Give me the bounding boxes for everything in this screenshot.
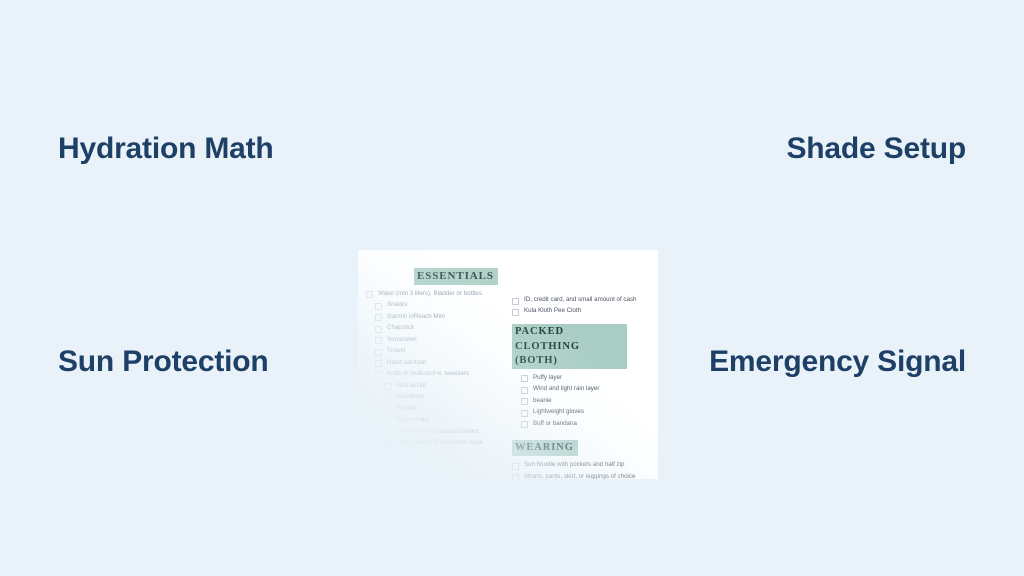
list-item[interactable]: Headlamp (366, 393, 504, 402)
list-item[interactable]: Puffy layer (512, 374, 650, 383)
checkbox-icon[interactable] (375, 326, 382, 333)
list-item[interactable]: Chapstick (366, 324, 504, 333)
checkbox-icon[interactable] (384, 441, 391, 448)
checkbox-icon[interactable] (375, 349, 382, 356)
list-item[interactable]: beanie (512, 397, 650, 406)
checkbox-icon[interactable] (521, 375, 528, 382)
list-item[interactable]: Buff or bandana (512, 420, 650, 429)
list-item[interactable]: Extra battery or low power bank (366, 439, 504, 448)
misc-item-list: ID, credit card, and small amount of cas… (512, 296, 650, 316)
slide-canvas: Hydration Math Shade Setup Sun Protectio… (0, 0, 1024, 576)
list-item[interactable]: Wind and light rain layer (512, 385, 650, 394)
checkbox-icon[interactable] (521, 398, 528, 405)
list-item[interactable]: Lightweight gloves (512, 408, 650, 417)
checkbox-icon[interactable] (521, 421, 528, 428)
checkbox-icon[interactable] (512, 474, 519, 479)
checkbox-icon[interactable] (375, 360, 382, 367)
packed-clothing-item-list: Puffy layer Wind and light rain layer be… (512, 374, 650, 429)
wearing-item-list: Sun hoodie with pockets and half zip Sho… (512, 461, 650, 479)
section-heading-packed-clothing: PACKED CLOTHING (BOTH) (512, 324, 627, 369)
label-hydration-math: Hydration Math (58, 132, 274, 165)
list-item[interactable]: Garmin inReach Mini (366, 313, 504, 322)
list-item[interactable]: Paper maps (366, 416, 504, 425)
checkbox-icon[interactable] (512, 298, 519, 305)
checkbox-icon[interactable] (384, 406, 391, 413)
label-shade-setup: Shade Setup (787, 132, 967, 165)
essentials-item-list: Water (min 3 liters). Bladder or bottles… (366, 290, 504, 448)
checkbox-icon[interactable] (375, 303, 382, 310)
list-item[interactable]: Whistle (366, 405, 504, 414)
list-item[interactable]: First aid kit (366, 382, 504, 391)
list-item[interactable]: Shorts, pants, skirt, or leggings of cho… (512, 473, 650, 479)
section-heading-essentials: ESSENTIALS (414, 268, 498, 285)
checkbox-icon[interactable] (384, 383, 391, 390)
section-heading-wearing: WEARING (512, 440, 578, 456)
checkbox-icon[interactable] (375, 372, 382, 379)
checkbox-icon[interactable] (366, 291, 373, 298)
essentials-column: ESSENTIALS Water (min 3 liters). Bladder… (366, 260, 504, 479)
list-item[interactable]: Sunscreen (366, 336, 504, 345)
list-item[interactable]: Itinerary with a trusted contact (366, 428, 504, 437)
packing-list-image: ESSENTIALS Water (min 3 liters). Bladder… (358, 250, 658, 479)
list-item[interactable]: ID, credit card, and small amount of cas… (512, 296, 650, 305)
list-item[interactable]: Sun hoodie with pockets and half zip (512, 461, 650, 470)
checkbox-icon[interactable] (521, 387, 528, 394)
clothing-column: ID, credit card, and small amount of cas… (512, 260, 650, 479)
list-item[interactable]: Hand sanitizer (366, 359, 504, 368)
list-item[interactable]: Knife or multi-tool w. tweezers (366, 370, 504, 379)
checkbox-icon[interactable] (375, 337, 382, 344)
checkbox-icon[interactable] (512, 463, 519, 470)
label-emergency-signal: Emergency Signal (709, 345, 966, 378)
list-item[interactable]: Water (min 3 liters). Bladder or bottles (366, 290, 504, 299)
list-item[interactable]: Trowel (366, 347, 504, 356)
checkbox-icon[interactable] (512, 309, 519, 316)
packing-list-sheet: ESSENTIALS Water (min 3 liters). Bladder… (358, 250, 658, 479)
checkbox-icon[interactable] (384, 395, 391, 402)
label-sun-protection: Sun Protection (58, 345, 269, 378)
list-item[interactable]: Snacks (366, 301, 504, 310)
checkbox-icon[interactable] (521, 410, 528, 417)
checkbox-icon[interactable] (384, 429, 391, 436)
list-item[interactable]: Kula Kloth Pee Cloth (512, 307, 650, 316)
checkbox-icon[interactable] (375, 314, 382, 321)
checkbox-icon[interactable] (384, 418, 391, 425)
